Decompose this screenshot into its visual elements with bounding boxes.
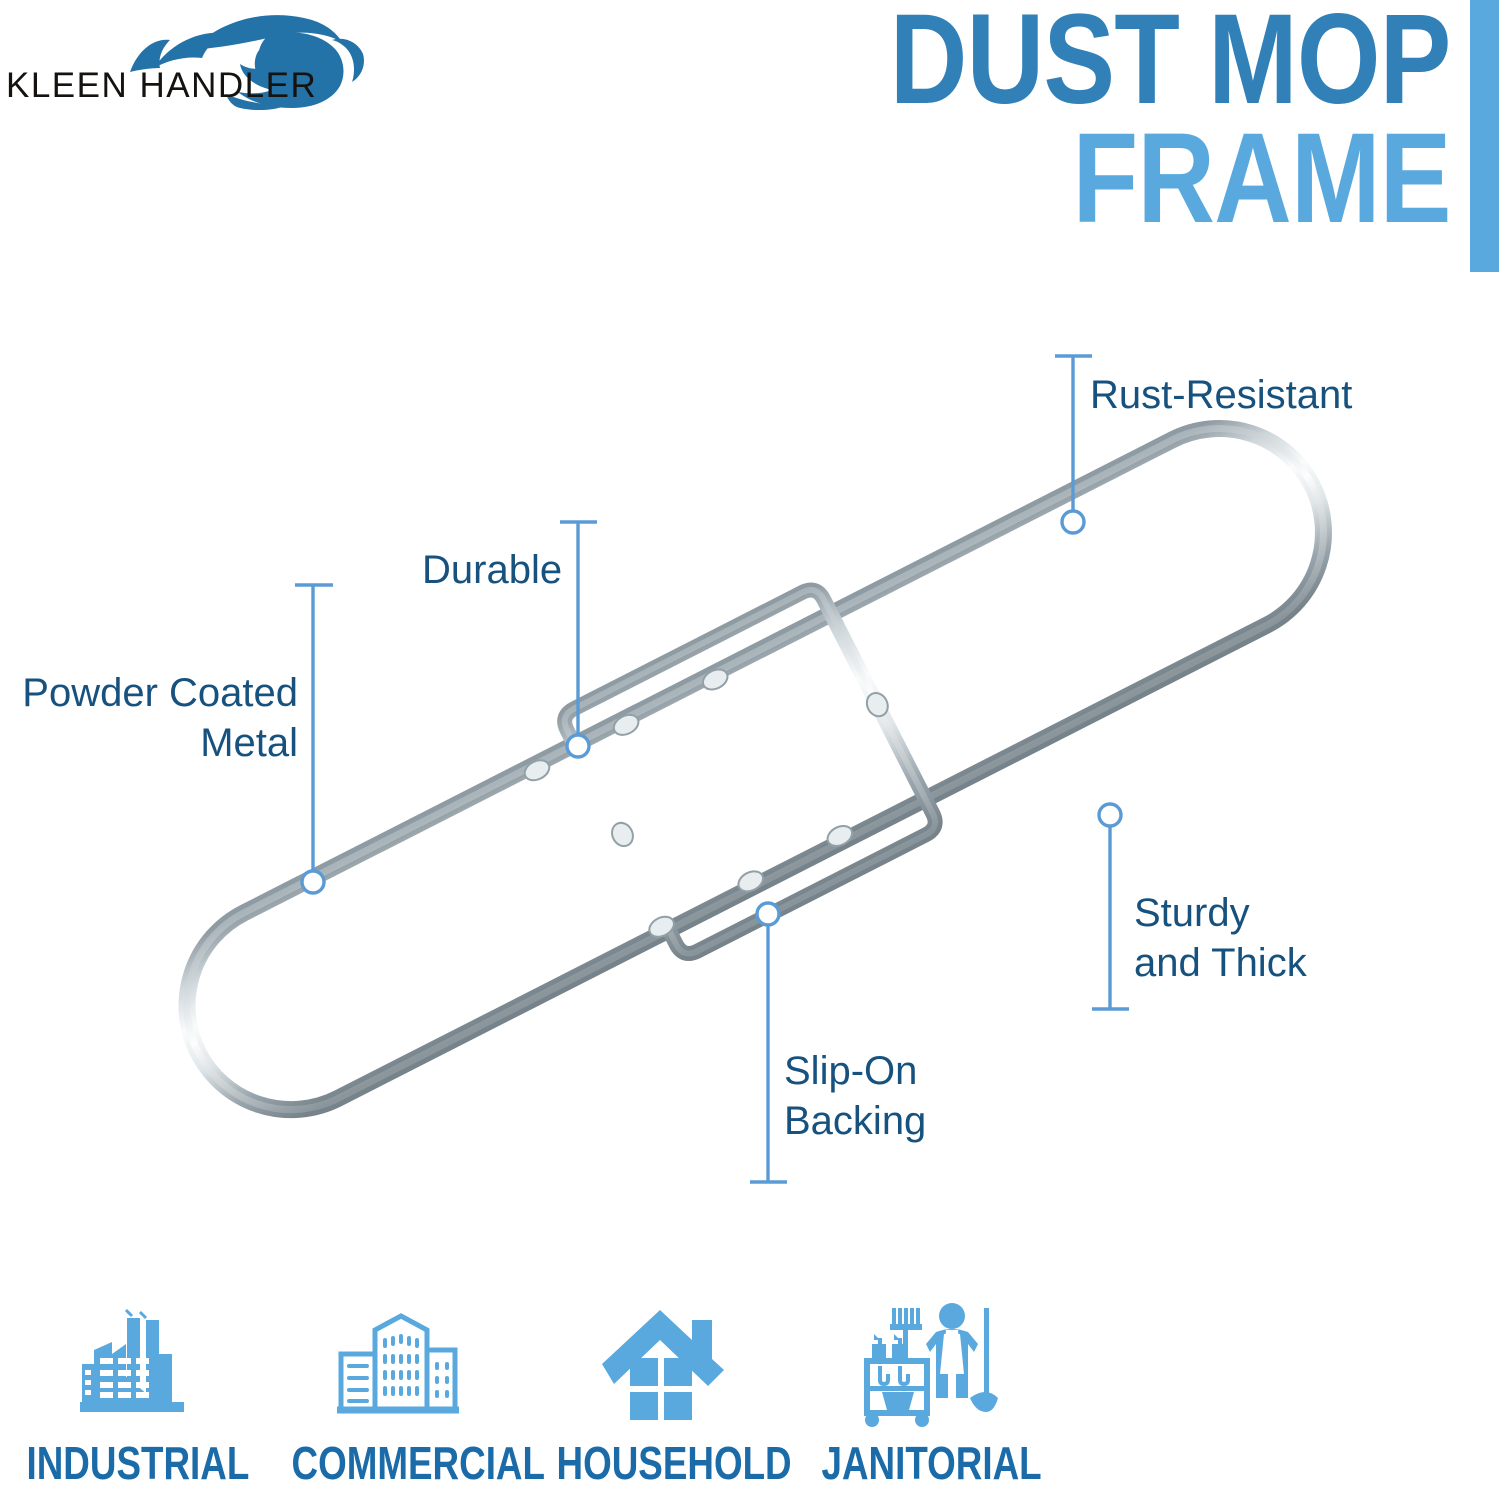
application-strip: INDUSTRIAL [0,1296,1060,1500]
application-item-janitorial: JANITORIAL [795,1296,1060,1500]
callout-label-powder-coated-metal: Powder Coated Metal [18,668,298,768]
infographic-page: KLEEN HANDLER DUST MOP FRAME [0,0,1499,1500]
application-item-commercial: COMMERCIAL [265,1296,530,1500]
callout-label-durable: Durable [422,545,562,595]
leader-slip-on-backing [750,903,787,1182]
application-item-industrial: INDUSTRIAL [0,1296,265,1500]
frame-center-bracket [508,581,949,985]
leader-powder-coated-metal [295,585,333,893]
callout-label-rust-resistant: Rust-Resistant [1090,370,1380,420]
callout-label-sturdy-and-thick: Sturdy and Thick [1134,888,1364,988]
title-line-primary: DUST MOP [890,0,1451,119]
application-label-industrial: INDUSTRIAL [27,1436,239,1490]
house-icon [530,1296,795,1428]
application-label-household: HOUSEHOLD [557,1436,769,1490]
callout-label-slip-on-backing: Slip-On Backing [784,1046,1024,1146]
office-buildings-icon [265,1296,530,1428]
title-accent-bar [1470,0,1499,272]
brand-wordmark: KLEEN HANDLER [6,66,317,106]
leader-sturdy-and-thick [1092,804,1129,1009]
leader-rust-resistant [1055,356,1092,533]
dust-mop-frame-drawing [0,300,1499,1280]
janitor-cart-icon [795,1296,1060,1428]
title-line-secondary: FRAME [890,119,1451,238]
application-item-household: HOUSEHOLD [530,1296,795,1500]
factory-icon [0,1296,265,1428]
application-label-janitorial: JANITORIAL [822,1436,1034,1490]
application-label-commercial: COMMERCIAL [292,1436,504,1490]
product-illustration [0,300,1499,1280]
brand-logo: KLEEN HANDLER [0,4,380,124]
page-title: DUST MOP FRAME [783,0,1451,238]
